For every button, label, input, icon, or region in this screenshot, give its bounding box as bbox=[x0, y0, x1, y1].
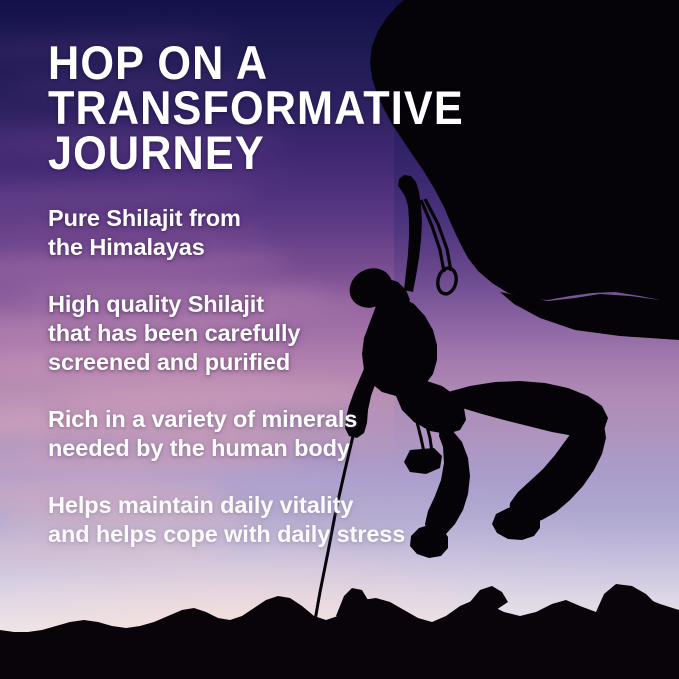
copy-block: HOP ON A TRANSFORMATIVE JOURNEY Pure Shi… bbox=[48, 0, 478, 549]
benefits-list: Pure Shilajit from the Himalayas High qu… bbox=[48, 204, 478, 549]
list-item: Pure Shilajit from the Himalayas bbox=[48, 204, 478, 262]
list-item: High quality Shilajit that has been care… bbox=[48, 290, 478, 377]
list-item: Rich in a variety of minerals needed by … bbox=[48, 405, 478, 463]
list-item: Helps maintain daily vitality and helps … bbox=[48, 491, 478, 549]
promo-banner: HOP ON A TRANSFORMATIVE JOURNEY Pure Shi… bbox=[0, 0, 679, 679]
page-title: HOP ON A TRANSFORMATIVE JOURNEY bbox=[48, 0, 444, 175]
